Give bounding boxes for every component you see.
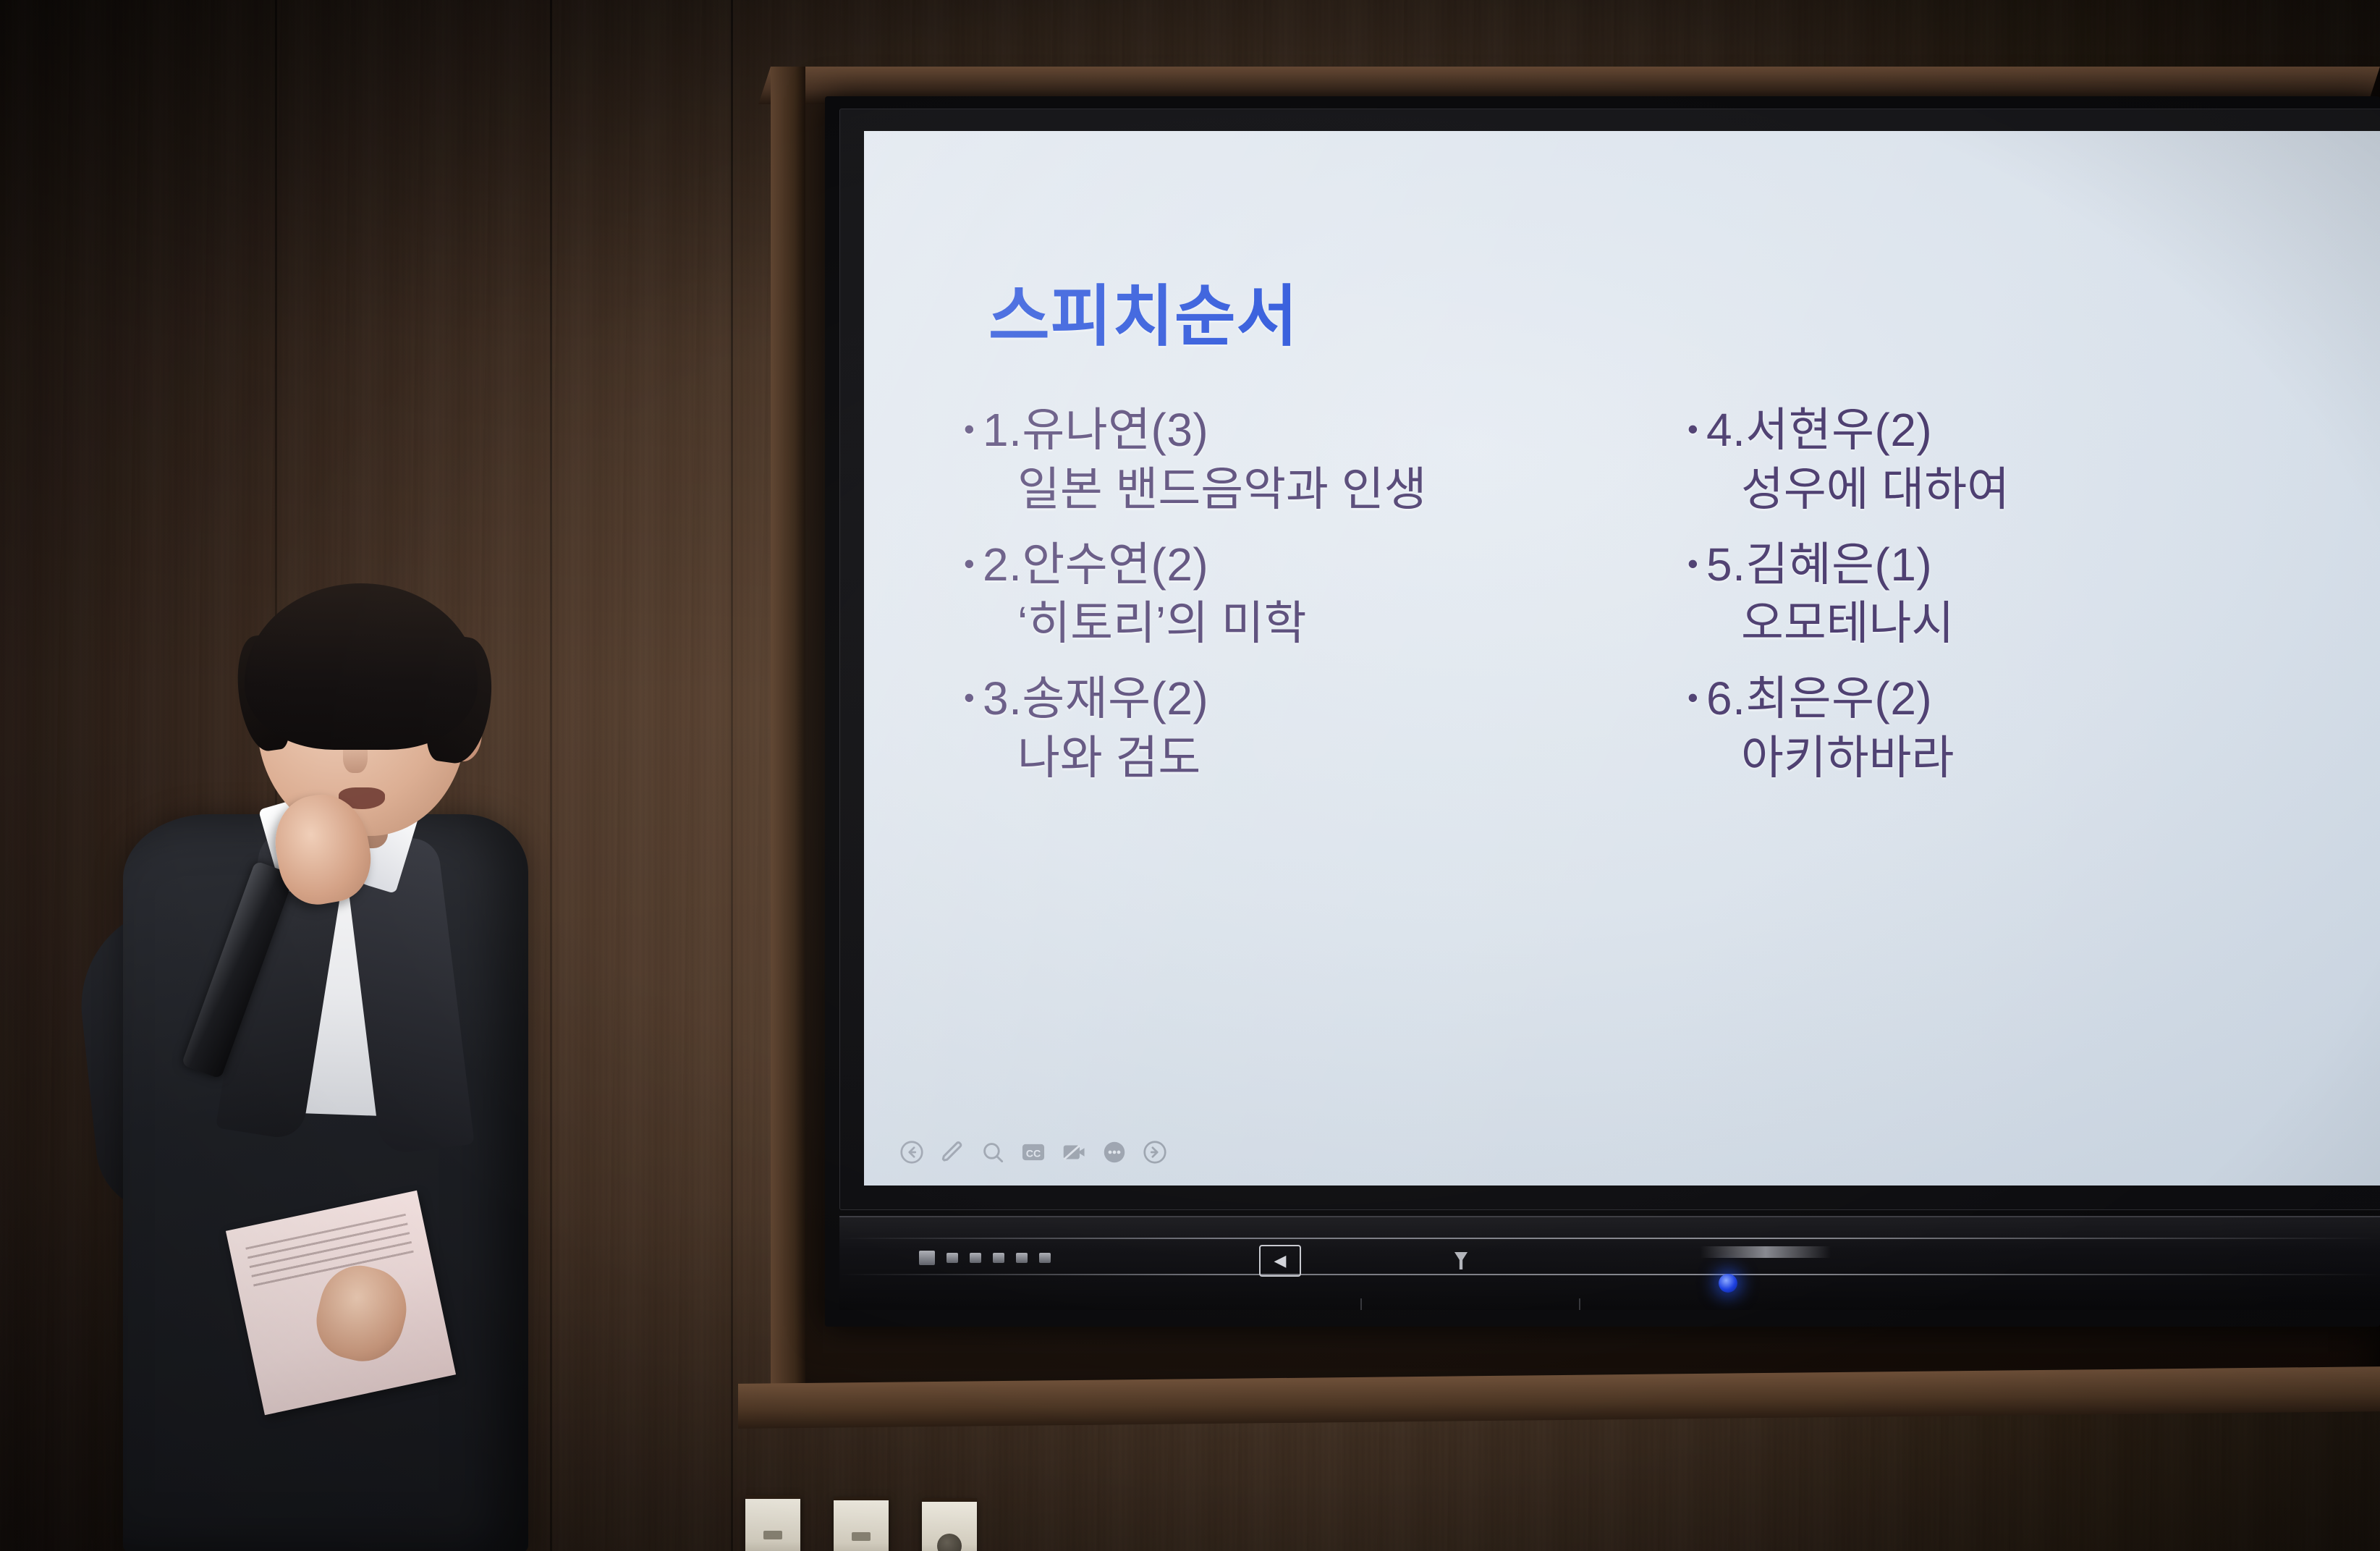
speaker-name: 3.송재우(2) (983, 675, 1208, 724)
speech-topic: 오모테나시 (1741, 599, 2339, 648)
svg-text:CC: CC (1026, 1148, 1041, 1159)
presenter (0, 593, 651, 1551)
speaker-name: 5.김혜은(1) (1706, 541, 1932, 590)
bullet-dot-icon: • (1687, 541, 1706, 586)
volume-key-icon[interactable] (970, 1253, 981, 1263)
speaker-name: 2.안수연(2) (983, 541, 1208, 590)
slide-body: • 1.유나연(3) 일본 밴드음악과 인생 • 2.안수연(2) ‘히토리’의… (964, 406, 2339, 809)
display-bottom-bezel: ◀ (839, 1216, 2380, 1310)
magnifier-icon[interactable] (978, 1138, 1007, 1167)
slide-column-left: • 1.유나연(3) 일본 밴드음악과 인생 • 2.안수연(2) ‘히토리’의… (964, 406, 1615, 809)
slideshow-toolbar[interactable]: CC (897, 1138, 1169, 1167)
wall-mount-arc (1360, 1298, 1580, 1310)
speech-topic: 아키하바라 (1741, 734, 2339, 783)
list-item: • 5.김혜은(1) 오모테나시 (1687, 541, 2339, 649)
speaker-name: 1.유나연(3) (983, 406, 1208, 455)
list-item: • 4.서현우(2) 성우에 대하여 (1687, 406, 2339, 515)
bullet-dot-icon: • (964, 541, 983, 586)
pen-icon[interactable] (938, 1138, 967, 1167)
presentation-room-photo: 스피치순서 • 1.유나연(3) 일본 밴드음악과 인생 • 2.안수연(2) … (0, 0, 2380, 1551)
slide-column-right: • 4.서현우(2) 성우에 대하여 • 5.김혜은(1) 오모테나시 • (1687, 406, 2339, 809)
speaker-name: 6.최은우(2) (1706, 675, 1932, 724)
blank-screen-icon[interactable] (1059, 1138, 1088, 1167)
recess-bevel-left (771, 67, 805, 1406)
extra-key-icon[interactable] (1039, 1253, 1051, 1263)
bullet-dot-icon: • (964, 406, 983, 452)
bezel-highlight-line (839, 1274, 2380, 1275)
list-item: • 6.최은우(2) 아키하바라 (1687, 675, 2339, 783)
ir-receiver-icon (1454, 1252, 1468, 1269)
more-options-icon[interactable] (1100, 1138, 1129, 1167)
input-key-icon[interactable] (947, 1253, 958, 1263)
speech-topic: ‘히토리’의 미학 (1017, 599, 1615, 648)
display-brand-logo (1701, 1246, 1831, 1258)
bullet-dot-icon: • (1687, 406, 1706, 452)
bullet-dot-icon: • (964, 675, 983, 720)
menu-key-icon[interactable] (919, 1251, 935, 1265)
list-item: • 3.송재우(2) 나와 검도 (964, 675, 1615, 783)
closed-captions-icon[interactable]: CC (1019, 1138, 1048, 1167)
hair (245, 583, 478, 750)
wall-outlet (834, 1497, 889, 1551)
bullet-dot-icon: • (1687, 675, 1706, 720)
speech-topic: 성우에 대하여 (1741, 465, 2339, 515)
slide-title: 스피치순서 (988, 263, 1298, 359)
speaker-name: 4.서현우(2) (1706, 406, 1932, 455)
presentation-screen[interactable]: 스피치순서 • 1.유나연(3) 일본 밴드음악과 인생 • 2.안수연(2) … (864, 131, 2380, 1186)
wall-panel-seam (731, 0, 733, 1551)
channel-key-icon[interactable] (993, 1253, 1004, 1263)
wall-outlet (922, 1498, 977, 1551)
wall-outlet (745, 1495, 800, 1551)
list-item: • 2.안수연(2) ‘히토리’의 미학 (964, 541, 1615, 649)
next-slide-arrow-icon[interactable] (1140, 1138, 1169, 1167)
power-key-icon[interactable] (1016, 1253, 1028, 1263)
display-control-keys[interactable] (919, 1251, 1051, 1265)
speech-topic: 일본 밴드음악과 인생 (1017, 465, 1615, 515)
previous-slide-arrow-icon[interactable] (897, 1138, 926, 1167)
speaker-icon: ◀ (1259, 1245, 1301, 1277)
speech-topic: 나와 검도 (1017, 734, 1615, 783)
power-led-indicator (1719, 1274, 1737, 1293)
bezel-highlight-line (839, 1238, 2380, 1239)
list-item: • 1.유나연(3) 일본 밴드음악과 인생 (964, 406, 1615, 515)
